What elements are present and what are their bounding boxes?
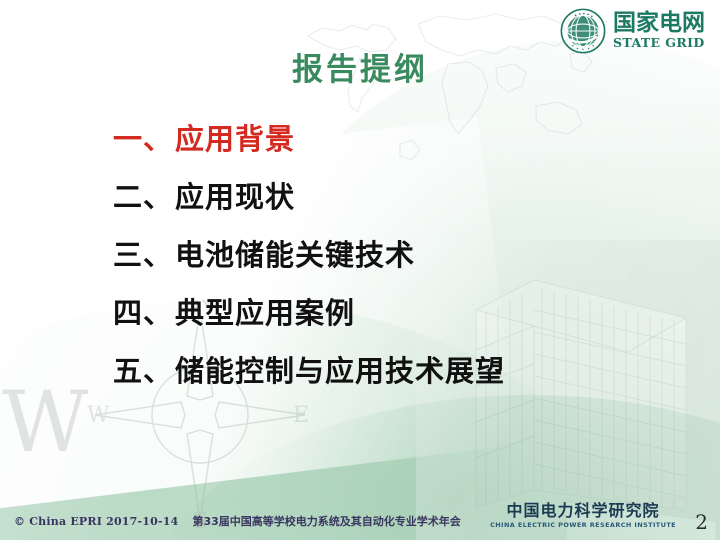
outline-item-2-label: 应用现状 <box>175 174 295 216</box>
page-title: 报告提纲 <box>0 44 720 89</box>
outline-item-4[interactable]: 四、 典型应用案例 <box>113 290 673 348</box>
outline-item-5-label: 储能控制与应用技术展望 <box>175 348 505 390</box>
institute-name-en: CHINA ELECTRIC POWER RESEARCH INSTITUTE <box>490 522 676 529</box>
outline-item-2[interactable]: 二、 应用现状 <box>113 174 673 232</box>
letter-w-watermark: W <box>2 380 90 464</box>
outline-item-1-label: 应用背景 <box>175 116 295 158</box>
outline-item-5-number: 五、 <box>113 348 175 390</box>
svg-text:W: W <box>87 403 110 428</box>
footer-copyright: © China EPRI 2017-10-14 <box>14 515 178 528</box>
page-number: 2 <box>695 510 708 534</box>
outline-list: 一、 应用背景 二、 应用现状 三、 电池储能关键技术 四、 典型应用案例 五、… <box>113 116 673 406</box>
institute-name-cn: 中国电力科学研究院 <box>490 503 676 519</box>
outline-item-5[interactable]: 五、 储能控制与应用技术展望 <box>113 348 673 406</box>
outline-item-3-label: 电池储能关键技术 <box>175 232 415 274</box>
svg-text:E: E <box>293 403 309 428</box>
outline-item-2-number: 二、 <box>113 174 175 216</box>
outline-item-3[interactable]: 三、 电池储能关键技术 <box>113 232 673 290</box>
state-grid-name-cn: 国家电网 <box>613 12 705 35</box>
presentation-slide: N S W E W <box>0 0 720 540</box>
outline-item-1[interactable]: 一、 应用背景 <box>113 116 673 174</box>
outline-item-4-label: 典型应用案例 <box>175 290 355 332</box>
outline-item-1-number: 一、 <box>113 116 175 158</box>
outline-item-3-number: 三、 <box>113 232 175 274</box>
institute-logo: 中国电力科学研究院 CHINA ELECTRIC POWER RESEARCH … <box>490 503 676 529</box>
footer: © China EPRI 2017-10-14 第33届中国高等学校电力系统及其… <box>14 513 461 529</box>
outline-item-4-number: 四、 <box>113 290 175 332</box>
footer-conference-name: 第33届中国高等学校电力系统及其自动化专业学术年会 <box>192 513 460 529</box>
